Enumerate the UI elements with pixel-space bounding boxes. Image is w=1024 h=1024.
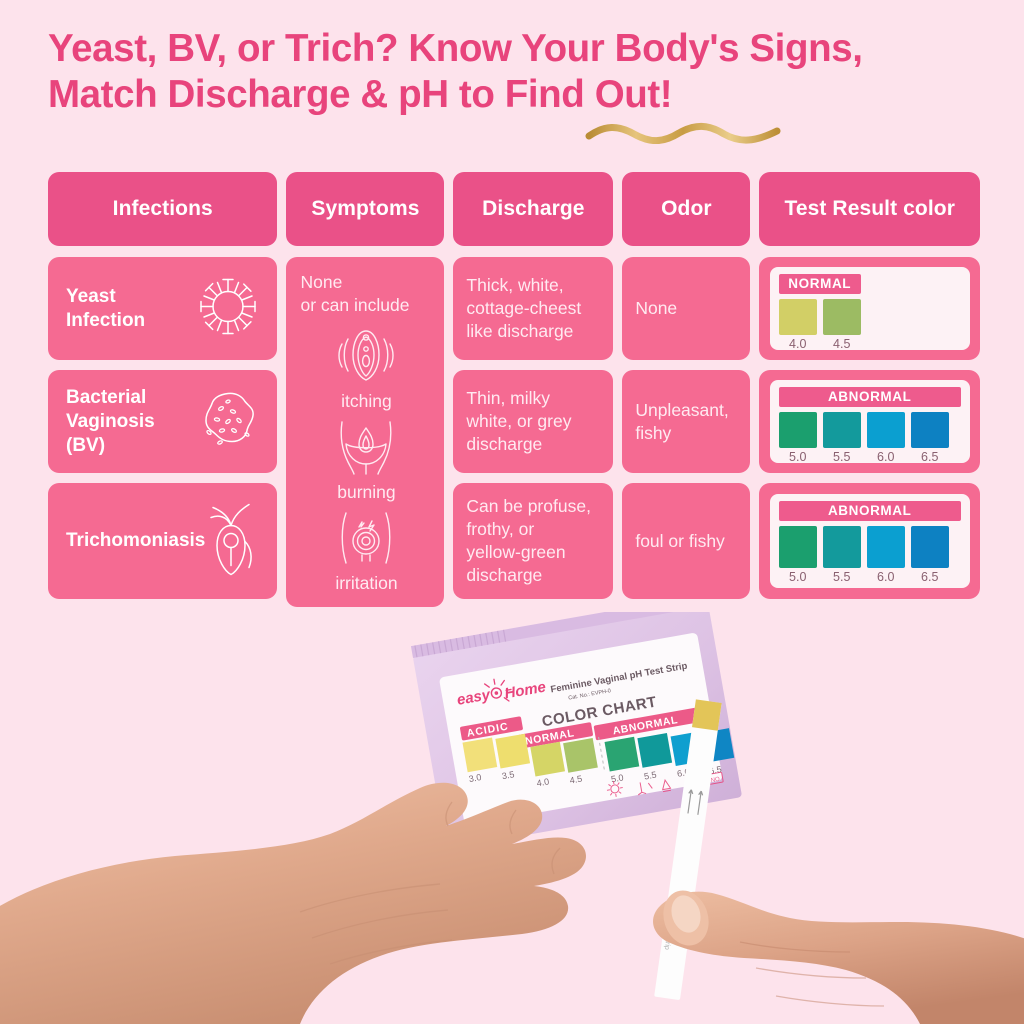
bv-line-1: Bacterial — [66, 387, 146, 408]
discharge-cell-yeast: Thick, white, cottage-cheest like discha… — [453, 257, 613, 360]
ph-swatch-5-0: 5.0 — [779, 412, 817, 464]
ph-swatch-value: 6.5 — [911, 570, 949, 584]
discharge-trich-line-4: discharge — [466, 565, 542, 585]
discharge-cell-bv: Thin, milky white, or grey discharge — [453, 370, 613, 473]
table-header-row: Infections Symptoms Discharge Odor Test … — [48, 172, 980, 246]
symptom-irritation: irritation — [328, 509, 404, 594]
odor-cell-trichomoniasis: foul or fishy — [622, 483, 750, 599]
ph-swatch-chip — [779, 526, 817, 568]
irritation-pain-icon — [328, 509, 404, 572]
bacteria-cluster-icon — [195, 386, 261, 457]
table-row-trichomoniasis: Trichomoniasis — [48, 483, 277, 599]
ph-swatch-6-0: 6.0 — [867, 526, 905, 584]
title-line-1: Yeast, BV, or Trich? Know Your Body's Si… — [48, 26, 988, 72]
packet-ph-value-4-5: 4.5 — [569, 774, 583, 786]
packet-ph-value-3-0: 3.0 — [468, 772, 482, 784]
result-cell-bv: ABNORMAL 5.0 5.5 — [759, 370, 980, 473]
ph-swatch-value: 6.0 — [867, 570, 905, 584]
ph-swatch-value: 5.0 — [779, 450, 817, 464]
infographic-page: Yeast, BV, or Trich? Know Your Body's Si… — [0, 0, 1024, 1024]
column-header-test-result-color: Test Result color — [759, 172, 980, 246]
ph-swatch-chip — [911, 412, 949, 448]
discharge-bv-line-1: Thin, milky — [466, 388, 550, 408]
ph-swatch-row-bv: 5.0 5.5 6.0 — [779, 412, 961, 464]
symptom-label-burning: burning — [337, 482, 395, 503]
discharge-bv-line-3: discharge — [466, 434, 542, 454]
column-discharge: Thick, white, cottage-cheest like discha… — [453, 257, 613, 607]
title-line-2: Match Discharge & pH to Find Out! — [48, 72, 988, 118]
ph-swatch-row-trich: 5.0 5.5 6.0 — [779, 526, 961, 584]
packet-ph-value-3-5: 3.5 — [501, 769, 515, 781]
infection-name-bv: Bacterial Vaginosis (BV) — [66, 386, 155, 458]
product-photo: easy Home Feminine Vaginal pH Test Strip… — [0, 612, 1024, 1024]
ph-band-label-abnormal: ABNORMAL — [779, 387, 961, 407]
discharge-trich-line-3: yellow-green — [466, 542, 565, 562]
infection-name-yeast: Yeast Infection — [66, 285, 145, 333]
table-body: Yeast Infection — [48, 257, 980, 607]
ph-swatch-value: 5.5 — [823, 450, 861, 464]
symptom-itching: itching — [328, 323, 404, 412]
ph-swatch-chip — [779, 299, 817, 335]
discharge-yeast-line-3: like discharge — [466, 321, 573, 341]
trich-line-1: Trichomoniasis — [66, 530, 205, 551]
trichomonad-protozoan-icon — [201, 500, 261, 583]
virus-spore-icon — [195, 273, 261, 344]
ph-swatch-value: 5.5 — [823, 570, 861, 584]
ph-swatch-4-5: 4.5 — [823, 299, 861, 351]
ph-swatch-value: 4.5 — [823, 337, 861, 351]
ph-band-label-normal: NORMAL — [779, 274, 861, 294]
ph-swatch-5-0: 5.0 — [779, 526, 817, 584]
result-cell-yeast: NORMAL 4.0 4.5 — [759, 257, 980, 360]
odor-bv-line-1: Unpleasant, — [635, 400, 728, 420]
ph-swatch-value: 5.0 — [779, 570, 817, 584]
ph-result-card-normal: NORMAL 4.0 4.5 — [770, 267, 970, 350]
symptoms-heading-line-2: or can include — [300, 295, 409, 315]
page-title: Yeast, BV, or Trich? Know Your Body's Si… — [48, 26, 988, 118]
column-infections: Yeast Infection — [48, 257, 277, 607]
infection-name-trichomoniasis: Trichomoniasis — [66, 529, 205, 553]
symptoms-heading-line-1: None — [300, 272, 342, 292]
symptom-burning: burning — [328, 418, 404, 503]
odor-bv-line-2: fishy — [635, 423, 671, 443]
ph-swatch-5-5: 5.5 — [823, 526, 861, 584]
bv-line-2: Vaginosis — [66, 411, 155, 432]
comparison-table: Infections Symptoms Discharge Odor Test … — [48, 172, 980, 607]
packet-ph-value-5-5: 5.5 — [643, 770, 657, 782]
ph-swatch-chip — [779, 412, 817, 448]
odor-trich-line-1: foul or fishy — [635, 531, 724, 551]
vulva-itching-icon — [328, 323, 404, 390]
gold-squiggle-underline — [585, 122, 781, 144]
table-row-bacterial-vaginosis: Bacterial Vaginosis (BV) — [48, 370, 277, 473]
odor-yeast-line-1: None — [635, 298, 677, 318]
table-row-yeast-infection: Yeast Infection — [48, 257, 277, 360]
discharge-yeast-line-2: cottage-cheest — [466, 298, 581, 318]
odor-cell-bv: Unpleasant, fishy — [622, 370, 750, 473]
ph-swatch-chip — [867, 412, 905, 448]
symptoms-heading: None or can include — [300, 271, 409, 317]
discharge-yeast-line-1: Thick, white, — [466, 275, 563, 295]
symptoms-cell: None or can include — [286, 257, 444, 607]
yeast-line-1: Yeast — [66, 286, 116, 307]
column-test-result-color: NORMAL 4.0 4.5 — [759, 257, 980, 607]
ph-swatch-chip — [911, 526, 949, 568]
yeast-line-2: Infection — [66, 310, 145, 331]
test-strip-ph-pad — [692, 699, 722, 730]
symptom-label-itching: itching — [341, 391, 392, 412]
ph-swatch-value: 4.0 — [779, 337, 817, 351]
bv-line-3: (BV) — [66, 435, 105, 456]
ph-swatch-chip — [823, 299, 861, 335]
discharge-trich-line-1: Can be profuse, — [466, 496, 591, 516]
ph-swatch-6-5: 6.5 — [911, 526, 949, 584]
ph-swatch-chip — [867, 526, 905, 568]
column-header-symptoms: Symptoms — [286, 172, 444, 246]
ph-swatch-4-0: 4.0 — [779, 299, 817, 351]
ph-result-card-abnormal-bv: ABNORMAL 5.0 5.5 — [770, 380, 970, 463]
ph-result-card-abnormal-trich: ABNORMAL 5.0 5.5 — [770, 494, 970, 588]
ph-swatch-row-yeast: 4.0 4.5 — [779, 299, 961, 351]
ph-swatch-chip — [823, 526, 861, 568]
ph-swatch-value: 6.0 — [867, 450, 905, 464]
packet-ph-value-4-0: 4.0 — [536, 776, 550, 788]
ph-swatch-value: 6.5 — [911, 450, 949, 464]
burning-flame-underwear-icon — [328, 418, 404, 481]
column-header-odor: Odor — [622, 172, 750, 246]
odor-cell-yeast: None — [622, 257, 750, 360]
packet-ph-value-5-0: 5.0 — [610, 772, 624, 784]
column-symptoms: None or can include — [286, 257, 444, 607]
result-cell-trichomoniasis: ABNORMAL 5.0 5.5 — [759, 483, 980, 599]
discharge-cell-trichomoniasis: Can be profuse, frothy, or yellow-green … — [453, 483, 613, 599]
column-header-infections: Infections — [48, 172, 277, 246]
column-odor: None Unpleasant, fishy foul or fishy — [622, 257, 750, 607]
ph-band-label-abnormal: ABNORMAL — [779, 501, 961, 521]
symptom-label-irritation: irritation — [335, 573, 397, 594]
ph-swatch-6-5: 6.5 — [911, 412, 949, 464]
ph-swatch-chip — [823, 412, 861, 448]
discharge-bv-line-2: white, or grey — [466, 411, 571, 431]
discharge-trich-line-2: frothy, or — [466, 519, 534, 539]
ph-swatch-5-5: 5.5 — [823, 412, 861, 464]
ph-swatch-6-0: 6.0 — [867, 412, 905, 464]
column-header-discharge: Discharge — [453, 172, 613, 246]
